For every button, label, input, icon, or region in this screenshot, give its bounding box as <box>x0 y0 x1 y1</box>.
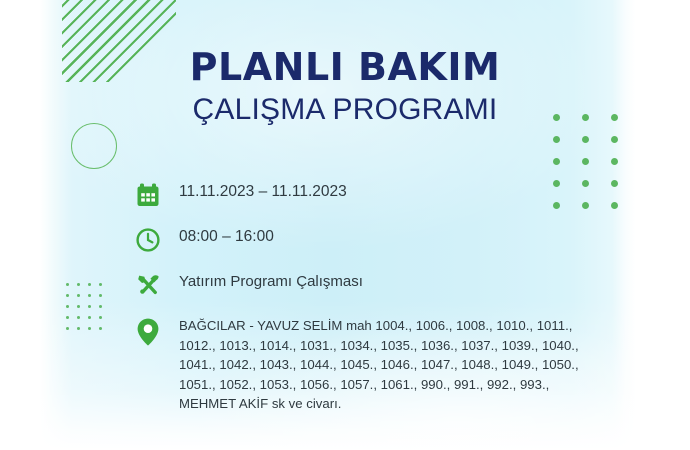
location-pin-icon <box>131 315 165 349</box>
clock-icon <box>131 223 165 257</box>
maintenance-schedule-poster: PLANLI BAKIM ÇALIŞMA PROGRAMI 11.11.2023… <box>0 0 690 450</box>
page-title: PLANLI BAKIM <box>0 48 690 86</box>
schedule-info-list: 11.11.2023 – 11.11.2023 08:00 – 16:00 <box>131 178 591 414</box>
circle-outline-icon <box>71 123 117 169</box>
page-subtitle: ÇALIŞMA PROGRAMI <box>0 95 690 125</box>
schedule-row-time: 08:00 – 16:00 <box>131 223 591 257</box>
poster-headings: PLANLI BAKIM ÇALIŞMA PROGRAMI <box>0 48 690 125</box>
schedule-date-value: 11.11.2023 – 11.11.2023 <box>179 178 347 200</box>
schedule-row-worktype: Yatırım Programı Çalışması <box>131 268 591 302</box>
schedule-address-value: BAĞCILAR - YAVUZ SELİM mah 1004., 1006.,… <box>179 313 591 414</box>
schedule-time-value: 08:00 – 16:00 <box>179 223 274 245</box>
dot-grid-left-icon <box>66 283 110 338</box>
schedule-row-date: 11.11.2023 – 11.11.2023 <box>131 178 591 212</box>
schedule-row-address: BAĞCILAR - YAVUZ SELİM mah 1004., 1006.,… <box>131 313 591 414</box>
tools-icon <box>131 268 165 302</box>
calendar-icon <box>131 178 165 212</box>
schedule-worktype-value: Yatırım Programı Çalışması <box>179 268 363 289</box>
